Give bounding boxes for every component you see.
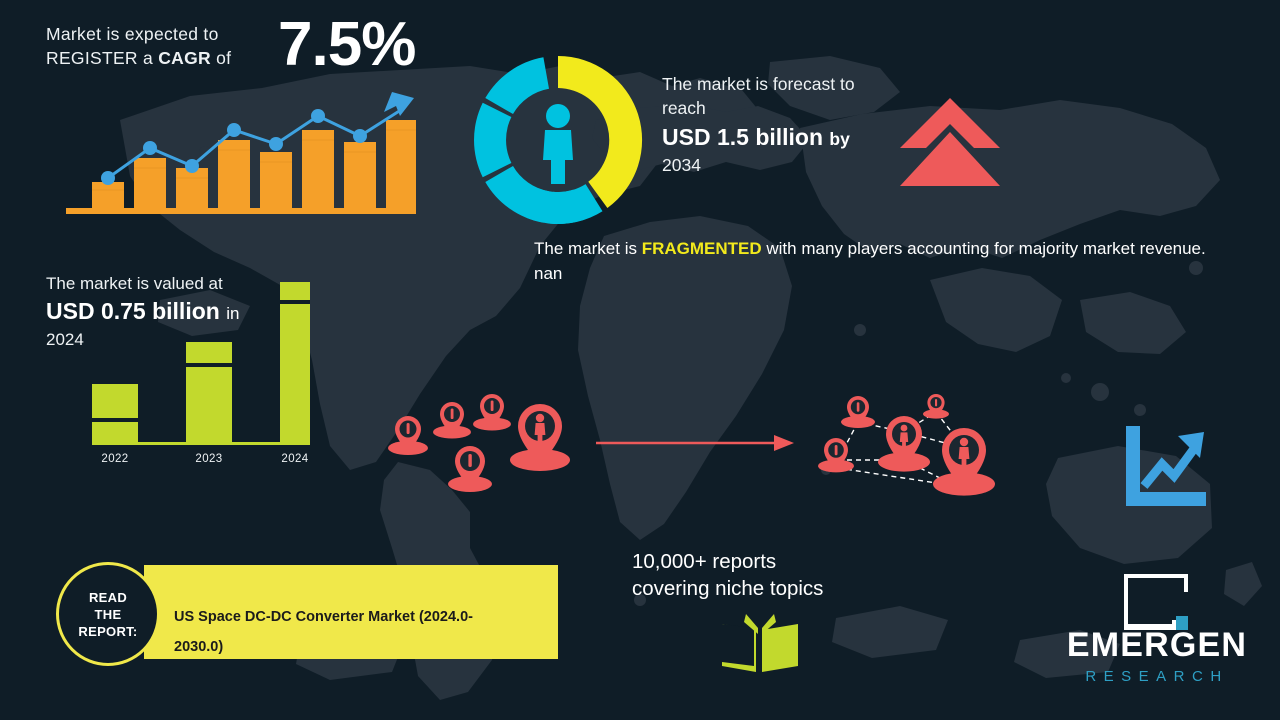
growth-bar-chart-with-trendline xyxy=(66,86,416,222)
fragmentation-block: The market is FRAGMENTED with many playe… xyxy=(534,236,1206,286)
fragmentation-pre: The market is xyxy=(534,239,642,258)
market-share-donut-chart xyxy=(470,52,646,228)
green-bar-label-2024: 2024 xyxy=(260,453,330,465)
location-pin-icon xyxy=(923,394,949,419)
green-bar-2022 xyxy=(92,384,138,442)
fragmentation-highlight: FRAGMENTED xyxy=(642,239,762,258)
market-valuation-bar-chart: 2022 2023 2024 xyxy=(70,292,330,467)
donut-segment-3 xyxy=(485,57,549,114)
report-title: US Space DC-DC Converter Market (2024.0-… xyxy=(174,602,504,662)
emergen-research-logo: EMERGEN RESEARCH xyxy=(1046,572,1268,698)
green-bar-notch xyxy=(280,300,310,304)
read-report-badge[interactable]: READ THE REPORT: xyxy=(56,562,160,666)
right-arrow-icon xyxy=(596,432,796,454)
green-bar-notch xyxy=(186,363,232,367)
forecast-value: USD 1.5 billion by xyxy=(662,122,892,154)
person-icon xyxy=(543,104,573,184)
cagr-lead-bold: CAGR xyxy=(158,48,211,68)
read-report-cta[interactable]: US Space DC-DC Converter Market (2024.0-… xyxy=(56,562,560,662)
badge-line3: REPORT: xyxy=(78,624,137,639)
location-pin-icon xyxy=(933,428,995,496)
donut-segment-5 xyxy=(485,166,549,223)
forecast-lead-line2: reach xyxy=(662,96,892,120)
open-book-icon xyxy=(718,612,802,674)
forecast-lead-line1: The market is forecast to xyxy=(662,72,892,96)
badge-line2: THE xyxy=(95,607,122,622)
location-pin-icon xyxy=(448,446,492,492)
location-pin-icon xyxy=(473,394,511,431)
green-bar-label-2022: 2022 xyxy=(80,453,150,465)
forecast-value-amount: USD 1.5 billion xyxy=(662,124,823,150)
cagr-value: 7.5% xyxy=(278,14,415,76)
forecast-value-suffix: by xyxy=(829,129,849,149)
square-outline-icon xyxy=(1122,572,1190,634)
growth-chart-baseline xyxy=(66,208,416,214)
cagr-lead-pre: REGISTER a xyxy=(46,48,158,68)
reports-line2: covering niche topics xyxy=(632,575,892,602)
double-up-arrow-icon xyxy=(898,96,1002,188)
location-pin-icon xyxy=(818,438,854,472)
cagr-lead-post: of xyxy=(211,48,231,68)
read-report-badge-label: READ THE REPORT: xyxy=(78,589,137,640)
location-pin-icon xyxy=(510,404,570,471)
cagr-block: Market is expected to REGISTER a CAGR of… xyxy=(46,22,446,70)
forecast-block: The market is forecast to reach USD 1.5 … xyxy=(662,72,892,176)
fragmentation-text: The market is FRAGMENTED with many playe… xyxy=(534,236,1206,286)
green-bar-label-2023: 2023 xyxy=(174,453,244,465)
donut-segment-4 xyxy=(474,103,511,177)
location-pin-network-connected xyxy=(806,390,1016,505)
green-bar-2023 xyxy=(186,342,232,442)
forecast-year: 2034 xyxy=(662,154,892,176)
location-pin-icon xyxy=(841,396,875,428)
green-bar-notch xyxy=(92,418,138,422)
green-bar-2024 xyxy=(280,282,310,442)
line-chart-up-icon xyxy=(1122,424,1208,510)
growth-trend-arrow-icon xyxy=(384,92,414,116)
location-pin-icon xyxy=(388,416,428,455)
logo-wordmark: EMERGEN xyxy=(1046,626,1268,665)
logo-subtitle: RESEARCH xyxy=(1046,668,1268,685)
location-pin-cluster-scattered xyxy=(382,388,578,494)
location-pin-icon xyxy=(433,402,471,439)
infographic-canvas: Market is expected to REGISTER a CAGR of… xyxy=(0,0,1280,720)
reports-line1: 10,000+ reports xyxy=(632,548,892,575)
location-pin-icon xyxy=(878,416,930,472)
growth-chart-bars xyxy=(92,120,416,208)
green-chart-baseline xyxy=(92,442,310,445)
reports-count-block: 10,000+ reports covering niche topics xyxy=(632,548,892,602)
badge-line1: READ xyxy=(89,590,127,605)
